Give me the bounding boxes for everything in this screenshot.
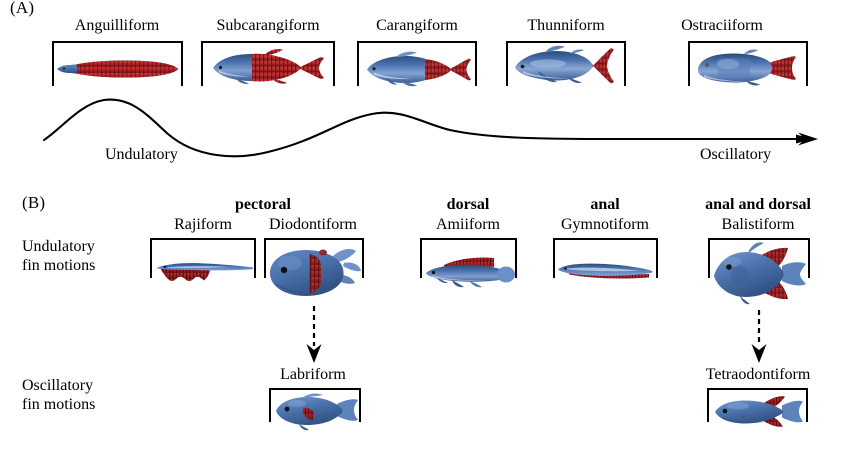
axis-label-undulatory: Undulatory: [105, 146, 178, 164]
row-label-line1: Oscillatory: [22, 377, 95, 396]
fish-rajiform: [152, 255, 256, 291]
mode-label-gymnotiform: Gymnotiform: [561, 216, 649, 234]
row-label-line2: fin motions: [22, 396, 95, 415]
fish-gymnotiform: [555, 256, 657, 286]
undulatory-oscillatory-arrow: [0, 0, 850, 160]
row-label-oscillatory-fin-motions: Oscillatory fin motions: [22, 377, 95, 415]
mode-label-amiiform: Amiiform: [436, 216, 500, 234]
transition-arrow-diodontiform-to-labriform: [298, 306, 330, 364]
mode-label-balistiform: Balistiform: [722, 216, 795, 234]
panel-b-tag: (B): [22, 193, 45, 213]
fish-amiiform: [422, 250, 518, 292]
row-label-undulatory-fin-motions: Undulatory fin motions: [22, 238, 95, 276]
mode-label-rajiform: Rajiform: [174, 216, 232, 234]
fish-tetraodontiform: [712, 392, 806, 434]
group-label-anal: anal: [590, 196, 619, 214]
axis-label-oscillatory: Oscillatory: [700, 146, 771, 164]
mode-label-diodontiform: Diodontiform: [269, 216, 357, 234]
figure-canvas: (A) Anguilliform Subcarangiform Carangif…: [0, 0, 850, 472]
fish-balistiform: [710, 240, 810, 312]
group-label-anal-and-dorsal: anal and dorsal: [705, 196, 811, 214]
group-label-dorsal: dorsal: [447, 196, 490, 214]
fish-labriform: [273, 390, 361, 432]
group-label-pectoral: pectoral: [235, 196, 291, 214]
mode-label-tetraodontiform: Tetraodontiform: [706, 366, 811, 384]
row-label-line2: fin motions: [22, 257, 95, 276]
mode-label-labriform: Labriform: [280, 366, 346, 384]
fish-diodontiform: [266, 241, 364, 305]
transition-arrow-balistiform-to-tetraodontiform: [743, 310, 775, 364]
row-label-line1: Undulatory: [22, 238, 95, 257]
